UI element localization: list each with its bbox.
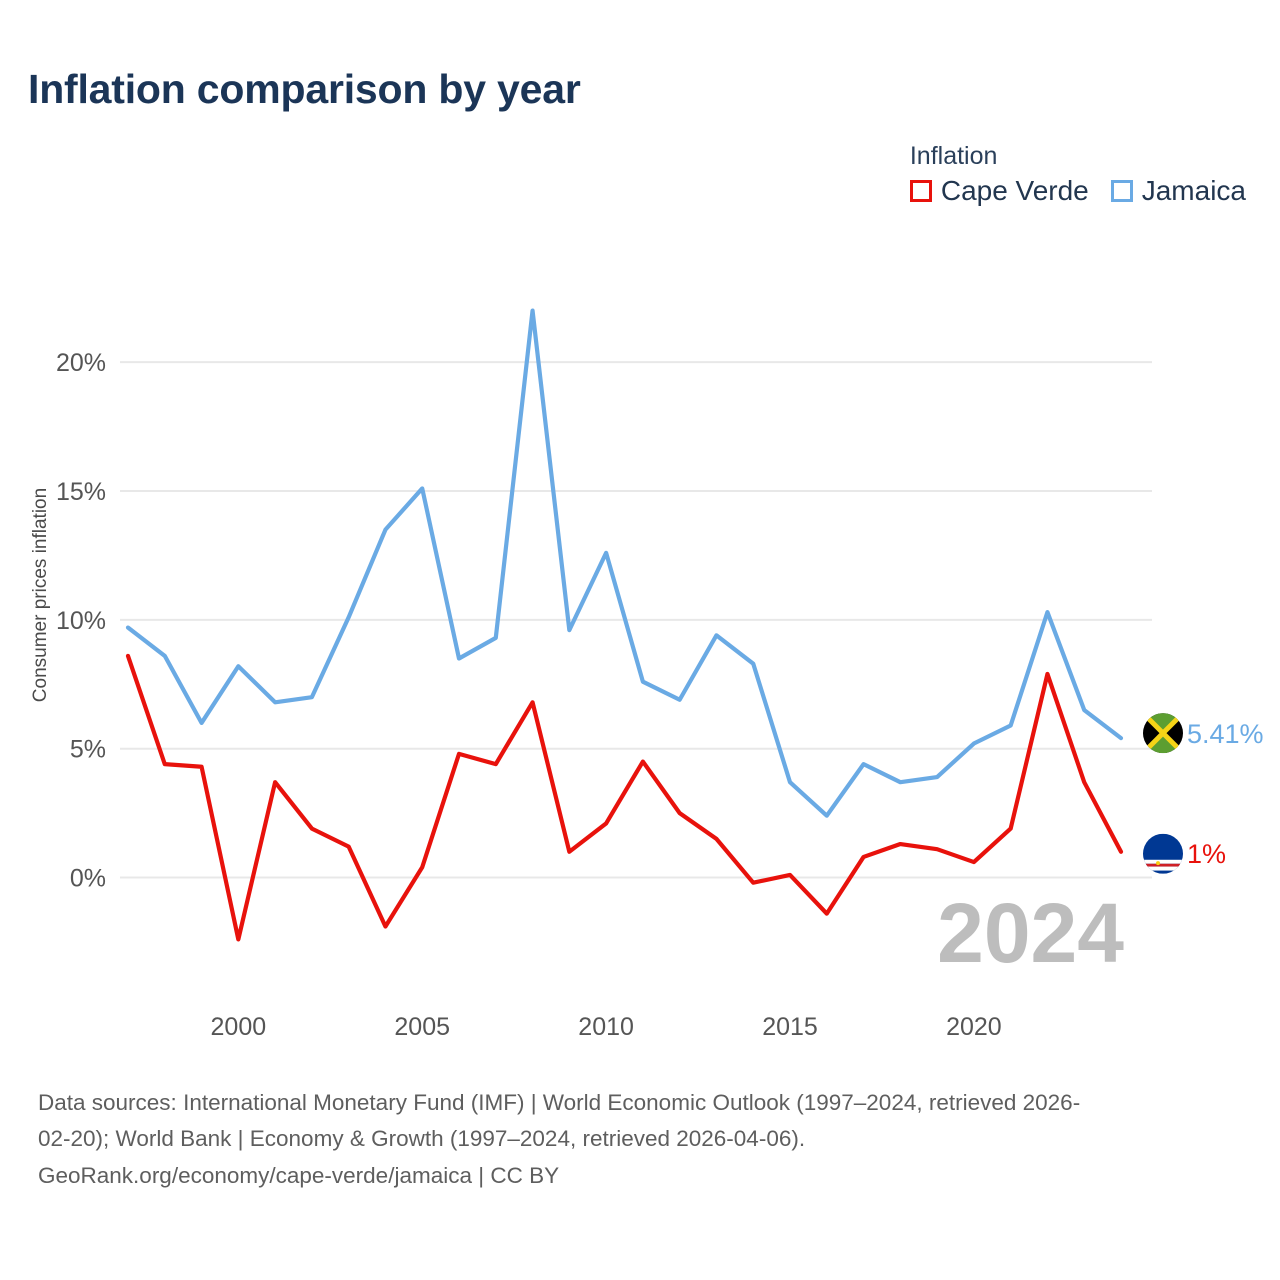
y-tick-label-10%: 10%: [56, 607, 106, 635]
footer-data-sources: Data sources: International Monetary Fun…: [38, 1085, 1248, 1194]
x-tick-label-2000: 2000: [211, 1013, 267, 1041]
y-axis-title: Consumer prices inflation: [30, 488, 51, 702]
inflation-chart-page: Inflation comparison by year Inflation C…: [0, 0, 1280, 1280]
end-value-label-jamaica: 5.41%: [1187, 719, 1264, 749]
x-tick-label-2005: 2005: [394, 1013, 450, 1041]
end-value-label-cape-verde: 1%: [1187, 839, 1226, 869]
x-tick-label-2020: 2020: [946, 1013, 1002, 1041]
footer-line-2: 02-20); World Bank | Economy & Growth (1…: [38, 1121, 1248, 1157]
x-tick-label-2010: 2010: [578, 1013, 634, 1041]
y-tick-label-15%: 15%: [56, 478, 106, 506]
y-tick-label-20%: 20%: [56, 349, 106, 377]
y-tick-label-5%: 5%: [70, 736, 106, 764]
year-watermark: 2024: [937, 886, 1124, 980]
footer-line-1: Data sources: International Monetary Fun…: [38, 1085, 1248, 1121]
series-line-jamaica[interactable]: [128, 311, 1121, 816]
plot-area: 0%5%10%15%20%Consumer prices inflation20…: [0, 0, 1280, 1070]
jamaica-flag-icon: [1143, 713, 1183, 753]
footer-line-3: GeoRank.org/economy/cape-verde/jamaica |…: [38, 1158, 1248, 1194]
y-tick-label-0%: 0%: [70, 865, 106, 893]
cape-verde-flag-icon: [1143, 834, 1183, 874]
x-tick-label-2015: 2015: [762, 1013, 818, 1041]
